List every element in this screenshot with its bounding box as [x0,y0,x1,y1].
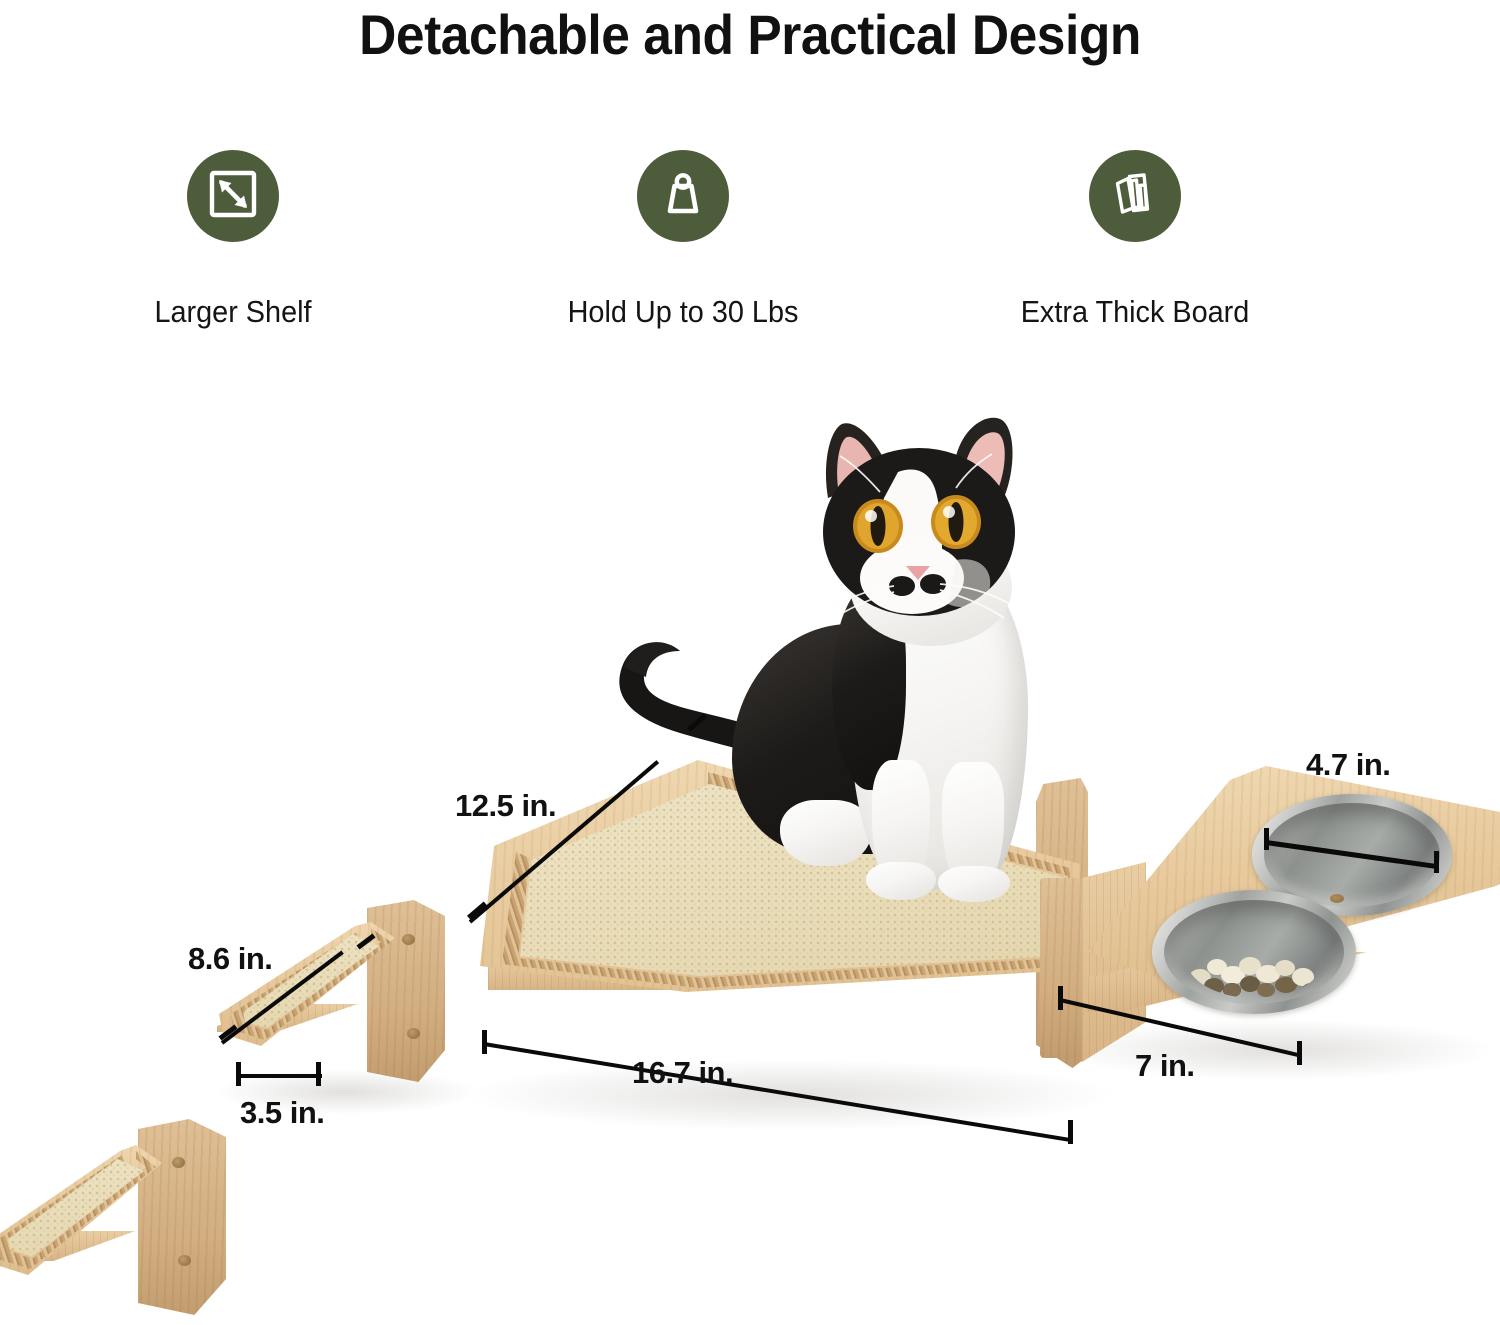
dimension-value: 7 in. [1135,1048,1195,1084]
step-screw-bottom [407,1028,420,1039]
product-photo-scene: 12.5 in. 16.7 in. 8.6 in. 3.5 in. 4.7 in… [0,380,1500,1322]
dimension-value: 8.6 in. [188,941,272,977]
cat-wall-step-upper [215,900,475,1100]
resize-arrows-icon [205,166,261,227]
page-title: Detachable and Practical Design [60,2,1440,67]
cat-front-paw-right [938,866,1010,902]
feature-label: Extra Thick Board [968,294,1303,330]
step-screw-top [172,1157,185,1168]
tuxedo-cat [600,410,1040,1000]
feature-extra-thick-board: Extra Thick Board [955,150,1315,330]
product-marketing-image: Detachable and Practical Design Larger S… [0,0,1500,1322]
step-screw-bottom [178,1255,191,1266]
feature-label: Larger Shelf [66,294,401,330]
dimension-value: 3.5 in. [240,1095,324,1131]
cat-rear-paw [780,800,872,866]
step-screw-top [402,934,415,945]
feature-hold-30-lbs: Hold Up to 30 Lbs [503,150,863,330]
feature-label: Hold Up to 30 Lbs [516,294,851,330]
stacked-boards-icon [1106,165,1164,228]
feature-icon-badge [637,150,729,242]
dimension-value: 12.5 in. [455,788,556,824]
feature-icon-badge [1089,150,1181,242]
step-wall-bracket [138,1119,226,1315]
feeding-station [1030,766,1500,1066]
feeder-screw-hole [1330,894,1344,903]
weight-icon [655,166,711,227]
cat-head [806,410,1040,620]
lower-bowl [1152,890,1356,1014]
feeder-wall-bracket [1040,878,1088,1058]
cat-wall-step-lower [0,1115,270,1325]
feature-larger-shelf: Larger Shelf [53,150,413,330]
cat-front-paw-left [866,862,936,900]
feature-icon-badge [187,150,279,242]
dimension-value: 4.7 in. [1306,747,1390,783]
dimension-value: 16.7 in. [632,1055,733,1091]
feature-row: Larger Shelf Hold Up to 30 Lbs [0,150,1500,340]
